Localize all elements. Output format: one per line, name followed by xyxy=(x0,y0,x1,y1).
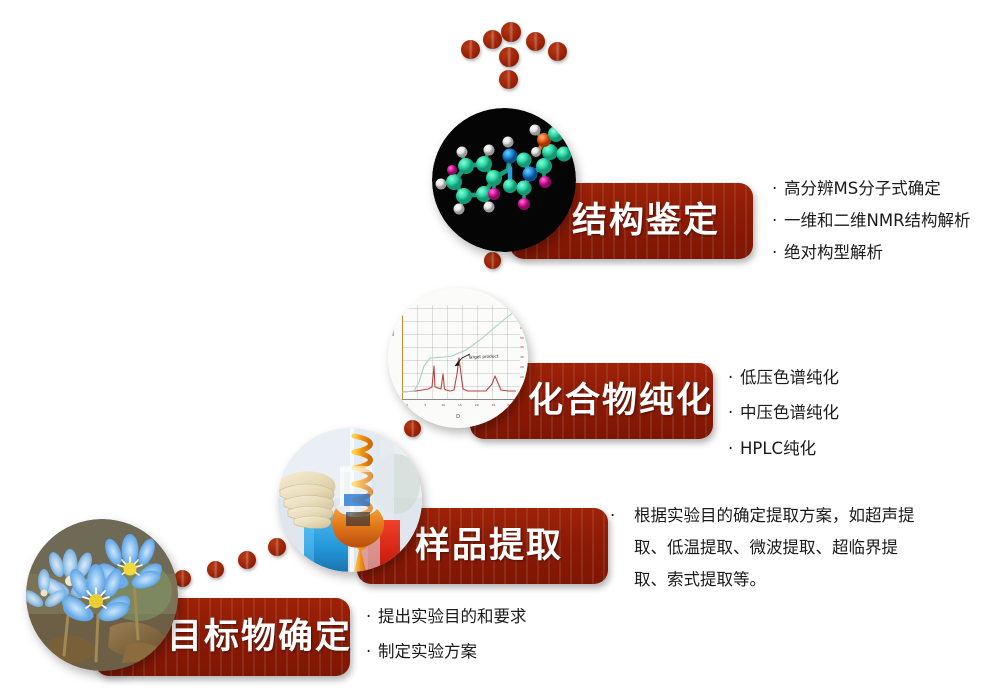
bullet-item: ·根据实验目的确定提取方案，如超声提取、低温提取、微波提取、超临界提取、索式提取… xyxy=(622,500,922,597)
stage-label: 目标物确定 xyxy=(167,620,352,655)
bullet-marker: · xyxy=(366,635,378,670)
stage-bullets-target-determination: ·提出实验目的和要求 ·制定实验方案 xyxy=(366,600,586,669)
chart-tick: 25 xyxy=(492,403,496,407)
bullet-marker: · xyxy=(772,237,784,269)
connector-dot xyxy=(207,561,224,578)
bullet-marker: · xyxy=(728,360,740,395)
bullet-item: ·绝对构型解析 xyxy=(772,237,977,269)
chart-tick: 0 xyxy=(406,403,408,407)
connector-dot xyxy=(526,32,545,51)
connector-dot xyxy=(484,252,501,269)
connector-dot xyxy=(548,42,567,61)
chart-annotation: Target product xyxy=(468,353,499,359)
bullet-item: ·一维和二维NMR结构解析 xyxy=(772,205,977,237)
chart-tick: 5 xyxy=(424,403,426,407)
chart-tick: 40 xyxy=(520,345,524,349)
chromatogram-trace xyxy=(388,288,528,428)
bullet-item: ·低压色谱纯化 xyxy=(728,360,928,395)
stage-label: 结构鉴定 xyxy=(572,204,720,239)
bullet-marker: · xyxy=(622,500,634,532)
chart-tick: 20 xyxy=(520,365,524,369)
stage-label: 化合物纯化 xyxy=(528,384,713,419)
chart-tick: 20 xyxy=(475,403,479,407)
connector-dot xyxy=(461,40,480,59)
bullet-marker: · xyxy=(772,173,784,205)
chart-y-label: Absorbance xyxy=(391,316,395,336)
chart-tick: 10 xyxy=(520,375,524,379)
connector-dot xyxy=(499,47,519,67)
molecule-3d-model-icon xyxy=(432,108,576,252)
chart-tick: 10 xyxy=(441,403,445,407)
chart-tick: 15 xyxy=(458,403,462,407)
infographic-canvas: 结构鉴定 xyxy=(0,0,982,697)
stage-image-blue-flowers-photo-image xyxy=(26,519,178,671)
stage-bullets-sample-extraction: ·根据实验目的确定提取方案，如超声提取、低温提取、微波提取、超临界提取、索式提取… xyxy=(622,500,922,597)
bullet-item: ·高分辨MS分子式确定 xyxy=(772,173,977,205)
bullet-item: ·中压色谱纯化 xyxy=(728,395,928,430)
stage-image-chromatogram-chart-image: Target product D Absorbance 0 5 10 15 20… xyxy=(388,288,528,428)
chart-tick: 30 xyxy=(520,355,524,359)
bullet-marker: · xyxy=(772,205,784,237)
connector-dot xyxy=(499,70,518,89)
stage-label: 样品提取 xyxy=(415,529,563,564)
laboratory-glassware-icon xyxy=(278,428,422,572)
bullet-marker: · xyxy=(728,431,740,466)
bullet-item: ·制定实验方案 xyxy=(366,635,586,670)
chart-tick: 50 xyxy=(520,336,524,340)
bullet-marker: · xyxy=(366,600,378,635)
stage-bullets-structure-identification: ·高分辨MS分子式确定 ·一维和二维NMR结构解析 ·绝对构型解析 xyxy=(772,173,977,270)
connector-dot xyxy=(501,22,521,42)
connector-dot xyxy=(238,551,256,569)
chart-tick: 30 xyxy=(507,403,511,407)
bullet-marker: · xyxy=(728,395,740,430)
chart-tick: 70 xyxy=(519,316,523,320)
stage-image-laboratory-flask-photo-image xyxy=(278,428,422,572)
chart-x-label: D xyxy=(388,414,528,420)
bullet-item: ·HPLC纯化 xyxy=(728,431,928,466)
chart-tick: 60 xyxy=(520,326,524,330)
stage-bullets-compound-purification: ·低压色谱纯化 ·中压色谱纯化 ·HPLC纯化 xyxy=(728,360,928,466)
bullet-item: ·提出实验目的和要求 xyxy=(366,600,586,635)
stage-image-molecule-3d-model-image xyxy=(432,108,576,252)
connector-dot xyxy=(483,30,502,49)
blue-flowers-icon xyxy=(26,519,178,671)
